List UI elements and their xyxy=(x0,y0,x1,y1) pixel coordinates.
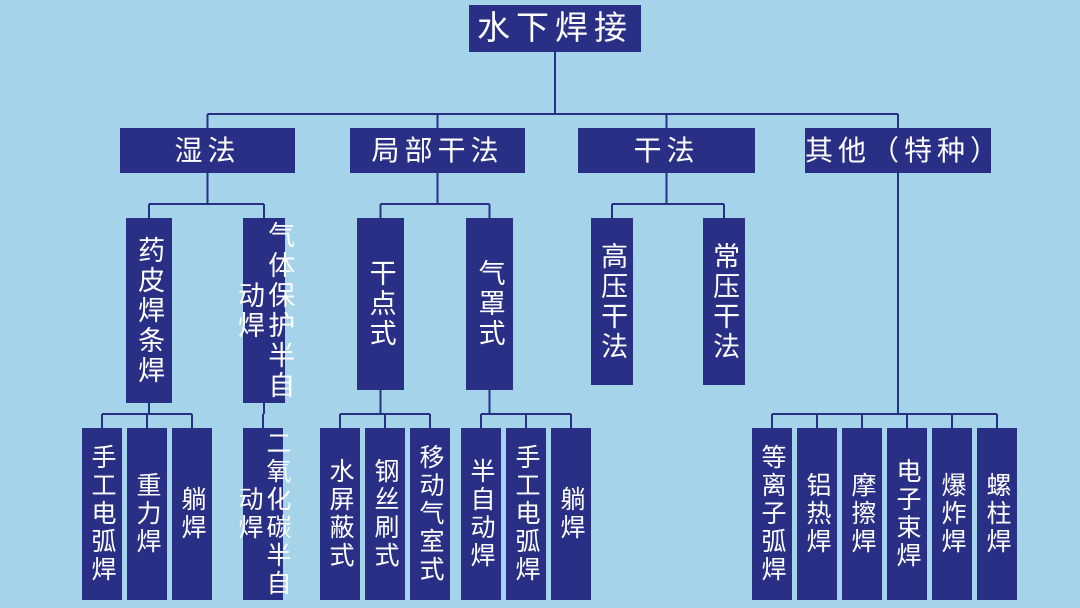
node-label-coated: 药皮焊条焊 xyxy=(134,236,164,386)
node-friction[interactable]: 摩擦焊 xyxy=(842,428,882,600)
node-smaw2[interactable]: 手工电弧焊 xyxy=(506,428,546,600)
node-label-thermite: 铝热焊 xyxy=(803,472,831,556)
node-label-wirebrush: 钢丝刷式 xyxy=(371,458,399,570)
node-lying1[interactable]: 躺焊 xyxy=(172,428,212,600)
node-label-gasshield: 气体保护半自动焊 xyxy=(234,218,294,403)
node-label-drypoint: 干点式 xyxy=(365,259,395,349)
node-label-gravity: 重力焊 xyxy=(133,472,161,556)
node-other[interactable]: 其他（特种） xyxy=(805,128,991,173)
node-label-other: 其他（特种） xyxy=(805,135,991,166)
node-label-friction: 摩擦焊 xyxy=(848,472,876,556)
node-gravity[interactable]: 重力焊 xyxy=(127,428,167,600)
node-label-gashood: 气罩式 xyxy=(474,259,504,349)
node-explosion[interactable]: 爆炸焊 xyxy=(932,428,972,600)
node-label-explosion: 爆炸焊 xyxy=(938,472,966,556)
diagram-canvas: 水下焊接湿法局部干法干法其他（特种）药皮焊条焊气体保护半自动焊干点式气罩式高压干… xyxy=(0,0,1080,608)
node-highp[interactable]: 高压干法 xyxy=(591,218,633,385)
node-normalp[interactable]: 常压干法 xyxy=(703,218,745,385)
node-label-lying1: 躺焊 xyxy=(178,486,206,542)
node-label-co2: 二氧化碳半自动焊 xyxy=(235,428,291,600)
node-label-normalp: 常压干法 xyxy=(709,242,739,362)
node-coated[interactable]: 药皮焊条焊 xyxy=(126,218,172,403)
node-label-smaw2: 手工电弧焊 xyxy=(512,444,540,584)
node-dry[interactable]: 干法 xyxy=(578,128,755,173)
node-localdry[interactable]: 局部干法 xyxy=(350,128,525,173)
node-movechamber[interactable]: 移动气室式 xyxy=(410,428,450,600)
node-stud[interactable]: 螺柱焊 xyxy=(977,428,1017,600)
node-drypoint[interactable]: 干点式 xyxy=(357,218,404,390)
node-gashood[interactable]: 气罩式 xyxy=(466,218,513,390)
node-root[interactable]: 水下焊接 xyxy=(469,5,641,52)
node-watershield[interactable]: 水屏蔽式 xyxy=(320,428,360,600)
node-plasma[interactable]: 等离子弧焊 xyxy=(752,428,792,600)
node-label-movechamber: 移动气室式 xyxy=(416,444,444,584)
node-label-stud: 螺柱焊 xyxy=(983,472,1011,556)
node-gasshield[interactable]: 气体保护半自动焊 xyxy=(243,218,285,403)
node-label-localdry: 局部干法 xyxy=(371,135,503,166)
node-label-smaw1: 手工电弧焊 xyxy=(88,444,116,584)
node-thermite[interactable]: 铝热焊 xyxy=(797,428,837,600)
node-lying2[interactable]: 躺焊 xyxy=(551,428,591,600)
node-label-plasma: 等离子弧焊 xyxy=(758,444,786,584)
node-co2[interactable]: 二氧化碳半自动焊 xyxy=(243,428,283,600)
node-semiauto[interactable]: 半自动焊 xyxy=(461,428,501,600)
node-ebeam[interactable]: 电子束焊 xyxy=(887,428,927,600)
node-label-dry: 干法 xyxy=(633,135,699,166)
node-label-highp: 高压干法 xyxy=(597,242,627,362)
node-smaw1[interactable]: 手工电弧焊 xyxy=(82,428,122,600)
node-wet[interactable]: 湿法 xyxy=(120,128,295,173)
node-label-ebeam: 电子束焊 xyxy=(893,458,921,570)
node-label-wet: 湿法 xyxy=(174,135,240,166)
node-label-watershield: 水屏蔽式 xyxy=(326,458,354,570)
node-label-root: 水下焊接 xyxy=(477,10,633,47)
node-label-semiauto: 半自动焊 xyxy=(467,458,495,570)
node-label-lying2: 躺焊 xyxy=(557,486,585,542)
node-wirebrush[interactable]: 钢丝刷式 xyxy=(365,428,405,600)
